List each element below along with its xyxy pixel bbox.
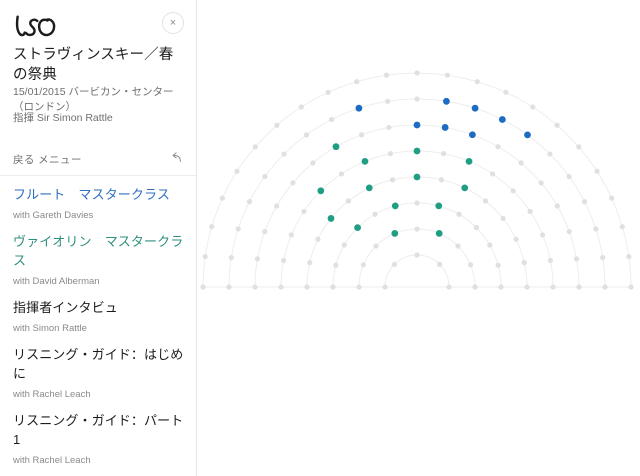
- track-title: リスニング・ガイド：はじめに: [13, 336, 184, 383]
- seating-row-arc: [385, 255, 449, 287]
- seat-dot-inactive[interactable]: [511, 188, 516, 193]
- seat-dot-inactive[interactable]: [253, 144, 258, 149]
- seat-dot-highlight-blue[interactable]: [469, 131, 476, 138]
- seat-dot-inactive[interactable]: [388, 151, 393, 156]
- seat-dot-highlight-blue[interactable]: [414, 122, 421, 129]
- seat-dot-inactive[interactable]: [274, 123, 279, 128]
- track-title: フルート マスタークラス: [13, 176, 184, 204]
- seat-dot-inactive[interactable]: [281, 258, 286, 263]
- seat-dot-inactive[interactable]: [234, 169, 239, 174]
- seat-dot-inactive[interactable]: [567, 174, 572, 179]
- seat-dot-inactive[interactable]: [200, 284, 205, 289]
- seat-dot-inactive[interactable]: [441, 151, 446, 156]
- seat-dot-highlight-blue[interactable]: [443, 98, 450, 105]
- seat-dot-inactive[interactable]: [540, 232, 545, 237]
- seat-dot-inactive[interactable]: [475, 79, 480, 84]
- close-icon: ×: [170, 18, 176, 29]
- seat-dot-inactive[interactable]: [220, 196, 225, 201]
- seat-dot-inactive[interactable]: [576, 284, 581, 289]
- seat-dot-inactive[interactable]: [539, 180, 544, 185]
- track-title: ヴァイオリン マスタークラス: [13, 223, 184, 270]
- seat-dot-highlight-blue[interactable]: [442, 124, 449, 131]
- seat-dot-inactive[interactable]: [414, 70, 419, 75]
- seat-dot-inactive[interactable]: [490, 171, 495, 176]
- page-title: ストラヴィンスキー／春の祭典: [13, 45, 185, 85]
- seat-dot-highlight-teal[interactable]: [436, 230, 443, 237]
- seating-chart-panel: [197, 0, 640, 476]
- seat-dot-inactive[interactable]: [304, 132, 309, 137]
- seat-dot-inactive[interactable]: [500, 216, 505, 221]
- work-conductor: 指揮 Sir Simon Rattle: [13, 111, 189, 125]
- seat-dot-highlight-teal[interactable]: [391, 230, 398, 237]
- seat-dot-inactive[interactable]: [468, 262, 473, 267]
- list-item[interactable]: 指揮者インタビュ with Simon Rattle: [0, 289, 197, 336]
- seat-dot-inactive[interactable]: [555, 203, 560, 208]
- seat-dot-highlight-teal[interactable]: [366, 184, 373, 191]
- seat-dot-highlight-blue[interactable]: [472, 105, 479, 112]
- seat-dot-inactive[interactable]: [474, 225, 479, 230]
- seat-dot-inactive[interactable]: [252, 284, 257, 289]
- seat-dot-inactive[interactable]: [567, 229, 572, 234]
- seat-dot-highlight-teal[interactable]: [317, 187, 324, 194]
- orchestra-seating-map[interactable]: [197, 0, 640, 476]
- seat-dot-inactive[interactable]: [550, 284, 555, 289]
- track-subtitle: with Simon Rattle: [13, 317, 184, 336]
- seat-dot-inactive[interactable]: [262, 174, 267, 179]
- seat-dot-highlight-blue[interactable]: [524, 132, 531, 139]
- track-title: リスニング・ガイド：パート2: [13, 468, 184, 476]
- seat-dot-inactive[interactable]: [414, 252, 419, 257]
- seating-row-arc: [359, 229, 475, 287]
- seat-dot-inactive[interactable]: [339, 171, 344, 176]
- seat-dot-inactive[interactable]: [304, 284, 309, 289]
- track-subtitle: with David Alberman: [13, 270, 184, 289]
- seat-dot-inactive[interactable]: [301, 209, 306, 214]
- seat-dot-inactive[interactable]: [582, 199, 587, 204]
- seat-dot-inactive[interactable]: [209, 224, 214, 229]
- seating-row-arc: [333, 203, 501, 287]
- seat-dot-inactive[interactable]: [290, 180, 295, 185]
- seat-dot-inactive[interactable]: [446, 284, 451, 289]
- seat-dot-inactive[interactable]: [281, 151, 286, 156]
- seat-dot-inactive[interactable]: [329, 117, 334, 122]
- seat-dot-inactive[interactable]: [356, 284, 361, 289]
- sidebar: × ストラヴィンスキー／春の祭典 15/01/2015 バービカン・センター（ロ…: [0, 0, 197, 476]
- back-arrow-icon[interactable]: [169, 151, 183, 165]
- seat-dot-inactive[interactable]: [576, 144, 581, 149]
- seat-dot-inactive[interactable]: [519, 160, 524, 165]
- seat-dot-highlight-teal[interactable]: [328, 215, 335, 222]
- track-subtitle: with Rachel Leach: [13, 383, 184, 402]
- seat-dot-inactive[interactable]: [483, 198, 488, 203]
- seat-dot-inactive[interactable]: [600, 255, 605, 260]
- seat-dot-inactive[interactable]: [274, 203, 279, 208]
- seat-dot-inactive[interactable]: [437, 262, 442, 267]
- seat-dot-inactive[interactable]: [414, 200, 419, 205]
- seat-dot-inactive[interactable]: [472, 284, 477, 289]
- seat-dot-inactive[interactable]: [503, 90, 508, 95]
- close-button[interactable]: ×: [162, 12, 184, 34]
- seat-dot-inactive[interactable]: [372, 212, 377, 217]
- list-item[interactable]: ヴァイオリン マスタークラス with David Alberman: [0, 223, 197, 289]
- seat-dot-inactive[interactable]: [326, 90, 331, 95]
- seat-dot-inactive[interactable]: [487, 242, 492, 247]
- lso-logo: [12, 12, 72, 42]
- seat-dot-inactive[interactable]: [530, 104, 535, 109]
- seat-dot-highlight-teal[interactable]: [435, 202, 442, 209]
- seat-dot-inactive[interactable]: [522, 260, 527, 265]
- seat-dot-inactive[interactable]: [330, 284, 335, 289]
- seat-dot-inactive[interactable]: [514, 237, 519, 242]
- seat-dot-inactive[interactable]: [390, 177, 395, 182]
- track-title: リスニング・ガイド：パート1: [13, 402, 184, 449]
- seat-dot-inactive[interactable]: [524, 284, 529, 289]
- seat-dot-inactive[interactable]: [236, 226, 241, 231]
- seating-row-arc: [281, 151, 553, 287]
- seat-dot-inactive[interactable]: [203, 254, 208, 259]
- seat-dot-inactive[interactable]: [609, 196, 614, 201]
- seat-dot-inactive[interactable]: [445, 73, 450, 78]
- seat-dot-inactive[interactable]: [498, 284, 503, 289]
- seat-dot-highlight-blue[interactable]: [356, 105, 363, 112]
- list-item[interactable]: フルート マスタークラス with Gareth Davies: [0, 176, 197, 223]
- app-root: × ストラヴィンスキー／春の祭典 15/01/2015 バービカン・センター（ロ…: [0, 0, 640, 476]
- seat-dot-inactive[interactable]: [386, 125, 391, 130]
- seat-dot-highlight-teal[interactable]: [466, 158, 473, 165]
- seat-dot-inactive[interactable]: [414, 226, 419, 231]
- seat-dot-inactive[interactable]: [289, 232, 294, 237]
- seat-dot-inactive[interactable]: [548, 258, 553, 263]
- track-subtitle: with Rachel Leach: [13, 449, 184, 468]
- seat-dot-inactive[interactable]: [385, 99, 390, 104]
- seat-dot-highlight-blue[interactable]: [499, 116, 506, 123]
- track-subtitle: with Gareth Davies: [13, 204, 184, 223]
- seat-dot-inactive[interactable]: [315, 237, 320, 242]
- seat-dot-inactive[interactable]: [299, 104, 304, 109]
- seat-dot-inactive[interactable]: [307, 260, 312, 265]
- seat-dot-inactive[interactable]: [495, 144, 500, 149]
- list-item[interactable]: リスニング・ガイド：はじめに with Rachel Leach: [0, 336, 197, 402]
- seat-dot-inactive[interactable]: [346, 198, 351, 203]
- seat-dot-inactive[interactable]: [361, 262, 366, 267]
- seat-dot-inactive[interactable]: [384, 73, 389, 78]
- seat-dot-inactive[interactable]: [414, 96, 419, 101]
- seating-row-arc: [307, 177, 527, 287]
- seat-dot-inactive[interactable]: [247, 199, 252, 204]
- track-title: 指揮者インタビュ: [13, 289, 184, 317]
- seat-dot-inactive[interactable]: [547, 151, 552, 156]
- seat-dot-inactive[interactable]: [455, 243, 460, 248]
- seat-dot-inactive[interactable]: [626, 254, 631, 259]
- seat-dot-inactive[interactable]: [555, 123, 560, 128]
- seat-dot-highlight-teal[interactable]: [362, 158, 369, 165]
- seat-dot-inactive[interactable]: [496, 263, 501, 268]
- seat-dot-inactive[interactable]: [229, 255, 234, 260]
- seat-dot-inactive[interactable]: [439, 177, 444, 182]
- list-item[interactable]: リスニング・ガイド：パート2: [0, 468, 197, 476]
- seat-dot-inactive[interactable]: [527, 209, 532, 214]
- seat-dot-inactive[interactable]: [262, 229, 267, 234]
- seat-dot-inactive[interactable]: [278, 284, 283, 289]
- seat-dot-inactive[interactable]: [255, 256, 260, 261]
- seat-dot-highlight-teal[interactable]: [414, 174, 421, 181]
- back-to-menu-row[interactable]: 戻る メニュー: [0, 146, 197, 176]
- seat-dot-highlight-teal[interactable]: [333, 143, 340, 150]
- seat-dot-inactive[interactable]: [354, 79, 359, 84]
- seat-dot-inactive[interactable]: [620, 224, 625, 229]
- seat-dot-inactive[interactable]: [574, 256, 579, 261]
- back-to-menu-label: 戻る メニュー: [13, 152, 82, 167]
- seat-dot-inactive[interactable]: [594, 169, 599, 174]
- seat-dot-inactive[interactable]: [359, 132, 364, 137]
- seat-dot-inactive[interactable]: [382, 284, 387, 289]
- seat-dot-inactive[interactable]: [226, 284, 231, 289]
- seat-dot-inactive[interactable]: [373, 243, 378, 248]
- track-list[interactable]: フルート マスタークラス with Gareth Davies ヴァイオリン マ…: [0, 176, 197, 476]
- seat-dot-inactive[interactable]: [342, 242, 347, 247]
- seat-dot-highlight-teal[interactable]: [461, 184, 468, 191]
- seat-dot-highlight-teal[interactable]: [354, 224, 361, 231]
- seat-dot-inactive[interactable]: [628, 284, 633, 289]
- seat-dot-inactive[interactable]: [456, 212, 461, 217]
- seat-dot-inactive[interactable]: [593, 226, 598, 231]
- seat-dot-inactive[interactable]: [392, 262, 397, 267]
- seat-dot-highlight-teal[interactable]: [414, 148, 421, 155]
- seat-dot-inactive[interactable]: [310, 160, 315, 165]
- seat-dot-highlight-teal[interactable]: [392, 202, 399, 209]
- seat-dot-inactive[interactable]: [602, 284, 607, 289]
- list-item[interactable]: リスニング・ガイド：パート1 with Rachel Leach: [0, 402, 197, 468]
- seat-dot-inactive[interactable]: [333, 263, 338, 268]
